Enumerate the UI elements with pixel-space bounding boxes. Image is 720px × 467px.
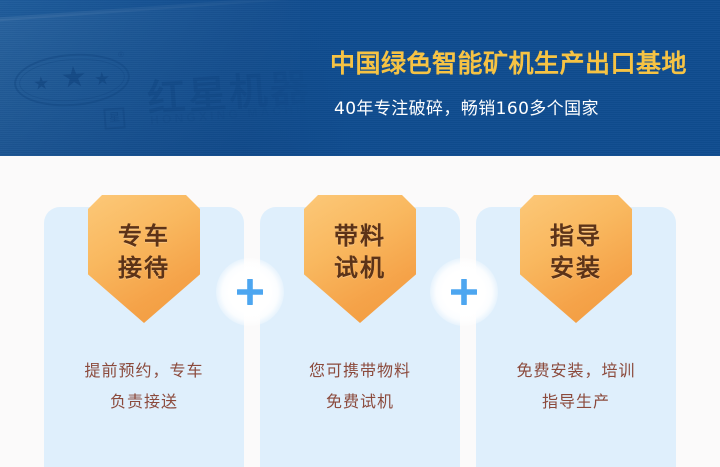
badge-label-line: 安装 <box>550 253 602 285</box>
banner-text-block: 中国绿色智能矿机生产出口基地 40年专注破碎，畅销160多个国家 <box>330 44 702 119</box>
connector-2 <box>430 258 498 326</box>
service-desc-line: 负责接送 <box>44 386 244 417</box>
plus-icon <box>235 277 265 307</box>
service-description-1: 提前预约，专车 负责接送 <box>44 355 244 417</box>
badge-label-line: 接待 <box>118 253 170 285</box>
service-desc-line: 免费安装，培训 <box>476 355 676 386</box>
service-desc-line: 指导生产 <box>476 386 676 417</box>
service-desc-line: 您可携带物料 <box>260 355 460 386</box>
service-desc-line: 免费试机 <box>260 386 460 417</box>
promo-banner-page: ★ ★ ★ ® 星 红星机器 HONGXING MACHINERY 中国绿色智能… <box>0 0 720 467</box>
badge-label-line: 指导 <box>550 221 602 253</box>
plus-icon <box>449 277 479 307</box>
service-desc-line: 提前预约，专车 <box>44 355 244 386</box>
badge-label-line: 试机 <box>334 253 386 285</box>
banner-headline: 中国绿色智能矿机生产出口基地 <box>330 44 702 80</box>
badge-label-line: 带料 <box>334 221 386 253</box>
hero-banner: ★ ★ ★ ® 星 红星机器 HONGXING MACHINERY 中国绿色智能… <box>0 0 720 156</box>
connector-1 <box>216 258 284 326</box>
service-description-3: 免费安装，培训 指导生产 <box>476 355 676 417</box>
service-badge-row: 专车 接待 带料 试机 指导 安装 <box>44 195 676 330</box>
badge-label-line: 专车 <box>118 221 170 253</box>
service-description-2: 您可携带物料 免费试机 <box>260 355 460 417</box>
banner-subheadline: 40年专注破碎，畅销160多个国家 <box>334 94 702 119</box>
